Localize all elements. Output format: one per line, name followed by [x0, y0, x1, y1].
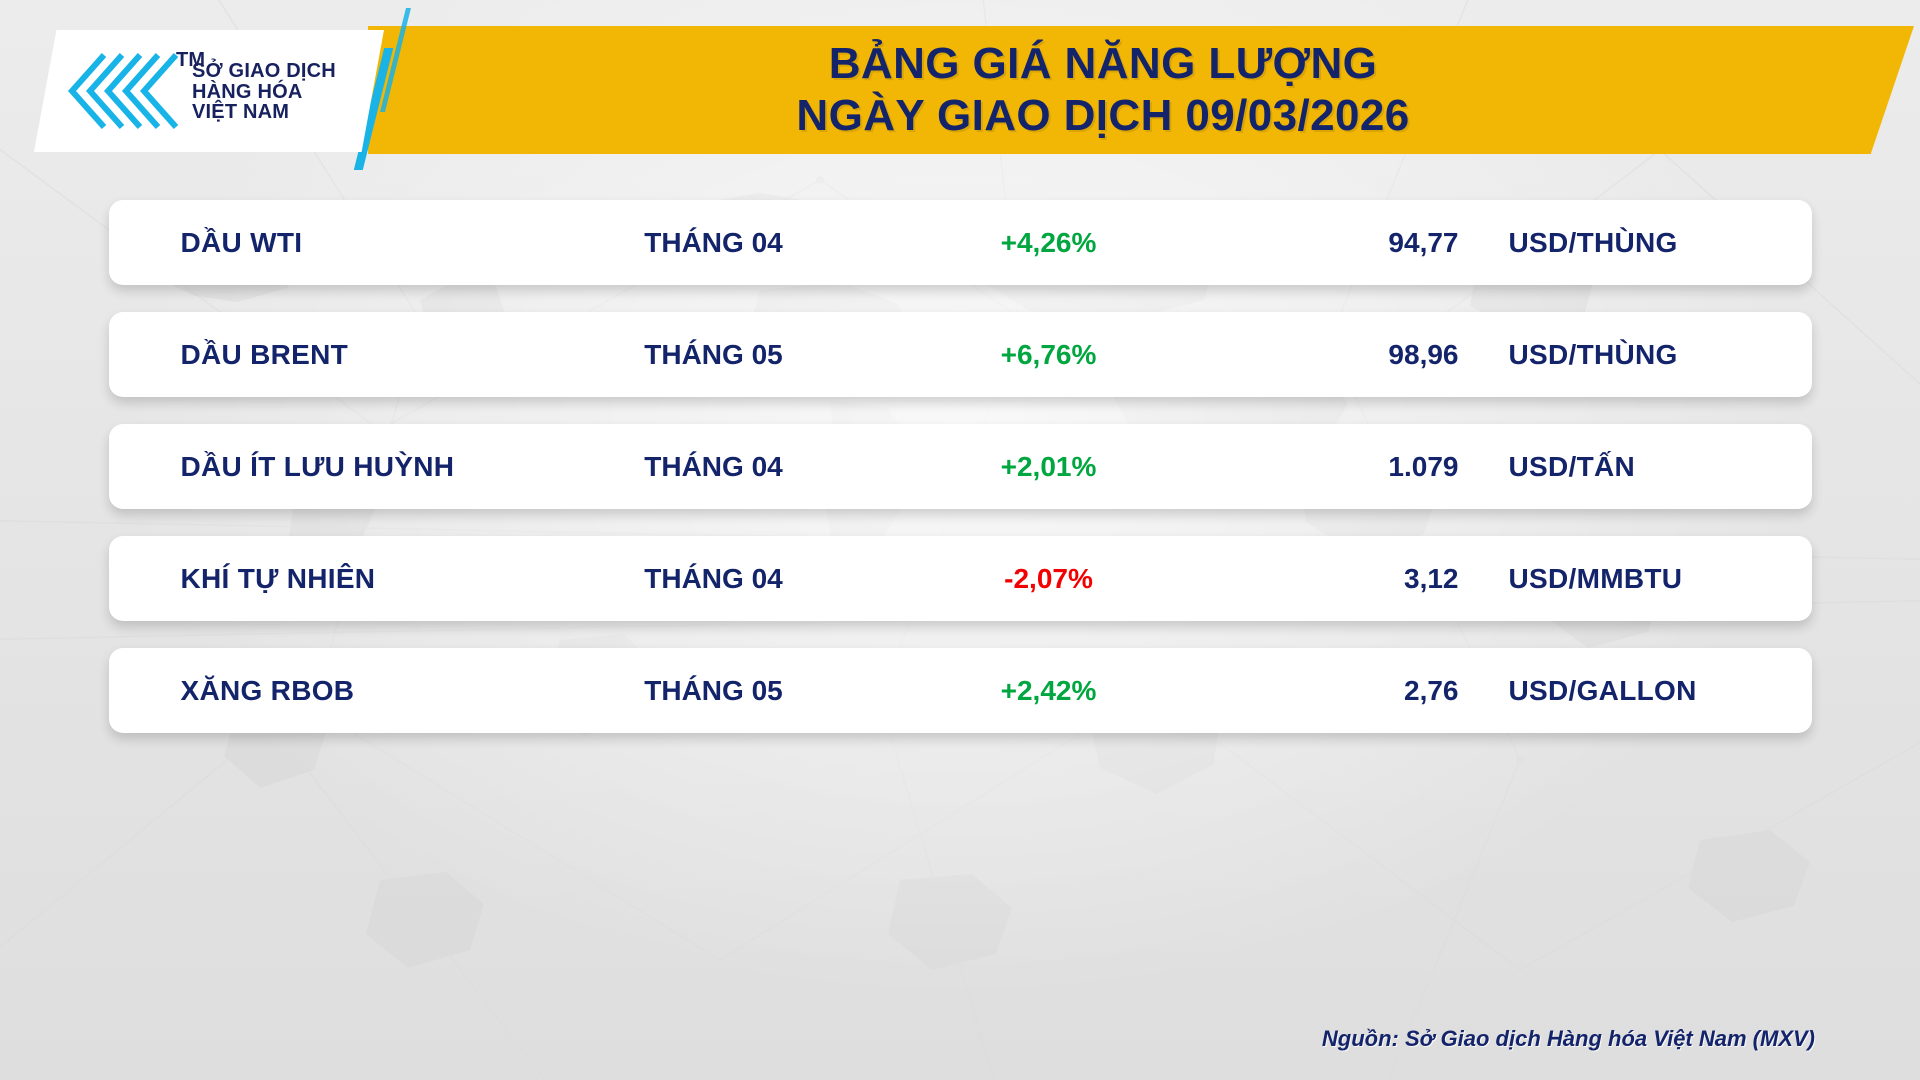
price-change: +2,01% [939, 451, 1159, 483]
price-table: DẦU WTITHÁNG 04+4,26%94,77USD/THÙNGDẦU B… [0, 200, 1920, 760]
table-row: DẦU ÍT LƯU HUỲNHTHÁNG 04+2,01%1.079USD/T… [109, 424, 1812, 509]
brand-line-3: VIỆT NAM [192, 102, 336, 123]
price-change: +6,76% [939, 339, 1159, 371]
price-value: 2,76 [1199, 675, 1459, 707]
commodity-name: DẦU WTI [181, 227, 303, 259]
table-row: XĂNG RBOBTHÁNG 05+2,42%2,76USD/GALLON [109, 648, 1812, 733]
price-value: 3,12 [1199, 563, 1459, 595]
table-row: DẦU WTITHÁNG 04+4,26%94,77USD/THÙNG [109, 200, 1812, 285]
banner-title-block: BẢNG GIÁ NĂNG LƯỢNG NGÀY GIAO DỊCH 09/03… [368, 26, 1838, 154]
price-value: 98,96 [1199, 339, 1459, 371]
brand-line-2: HÀNG HÓA [192, 82, 336, 103]
page-title-line2: NGÀY GIAO DỊCH 09/03/2026 [796, 91, 1409, 141]
contract-month: THÁNG 04 [589, 563, 839, 595]
price-change: +4,26% [939, 227, 1159, 259]
price-unit: USD/THÙNG [1509, 227, 1678, 259]
page-header: BẢNG GIÁ NĂNG LƯỢNG NGÀY GIAO DỊCH 09/03… [0, 0, 1920, 170]
commodity-name: XĂNG RBOB [181, 675, 355, 707]
price-unit: USD/TẤN [1509, 451, 1636, 483]
contract-month: THÁNG 05 [589, 675, 839, 707]
contract-month: THÁNG 04 [589, 451, 839, 483]
table-row: KHÍ TỰ NHIÊNTHÁNG 04-2,07%3,12USD/MMBTU [109, 536, 1812, 621]
price-value: 1.079 [1199, 451, 1459, 483]
contract-month: THÁNG 04 [589, 227, 839, 259]
brand-line-1: SỞ GIAO DỊCH [192, 61, 336, 82]
brand-logo: TM SỞ GIAO DỊCH HÀNG HÓA VIỆT NAM [34, 30, 384, 152]
trademark-symbol: TM [176, 50, 205, 71]
commodity-name: KHÍ TỰ NHIÊN [181, 563, 376, 595]
commodity-name: DẦU BRENT [181, 339, 349, 371]
source-note: Nguồn: Sở Giao dịch Hàng hóa Việt Nam (M… [1322, 1026, 1815, 1052]
brand-wordmark: TM SỞ GIAO DỊCH HÀNG HÓA VIỆT NAM [192, 59, 336, 123]
commodity-name: DẦU ÍT LƯU HUỲNH [181, 451, 455, 483]
page-title-line1: BẢNG GIÁ NĂNG LƯỢNG [829, 39, 1378, 89]
contract-month: THÁNG 05 [589, 339, 839, 371]
price-change: -2,07% [939, 563, 1159, 595]
price-value: 94,77 [1199, 227, 1459, 259]
price-unit: USD/GALLON [1509, 675, 1697, 707]
price-unit: USD/MMBTU [1509, 563, 1683, 595]
price-change: +2,42% [939, 675, 1159, 707]
mxv-chevron-logo-icon [64, 49, 182, 133]
table-row: DẦU BRENTTHÁNG 05+6,76%98,96USD/THÙNG [109, 312, 1812, 397]
price-unit: USD/THÙNG [1509, 339, 1678, 371]
